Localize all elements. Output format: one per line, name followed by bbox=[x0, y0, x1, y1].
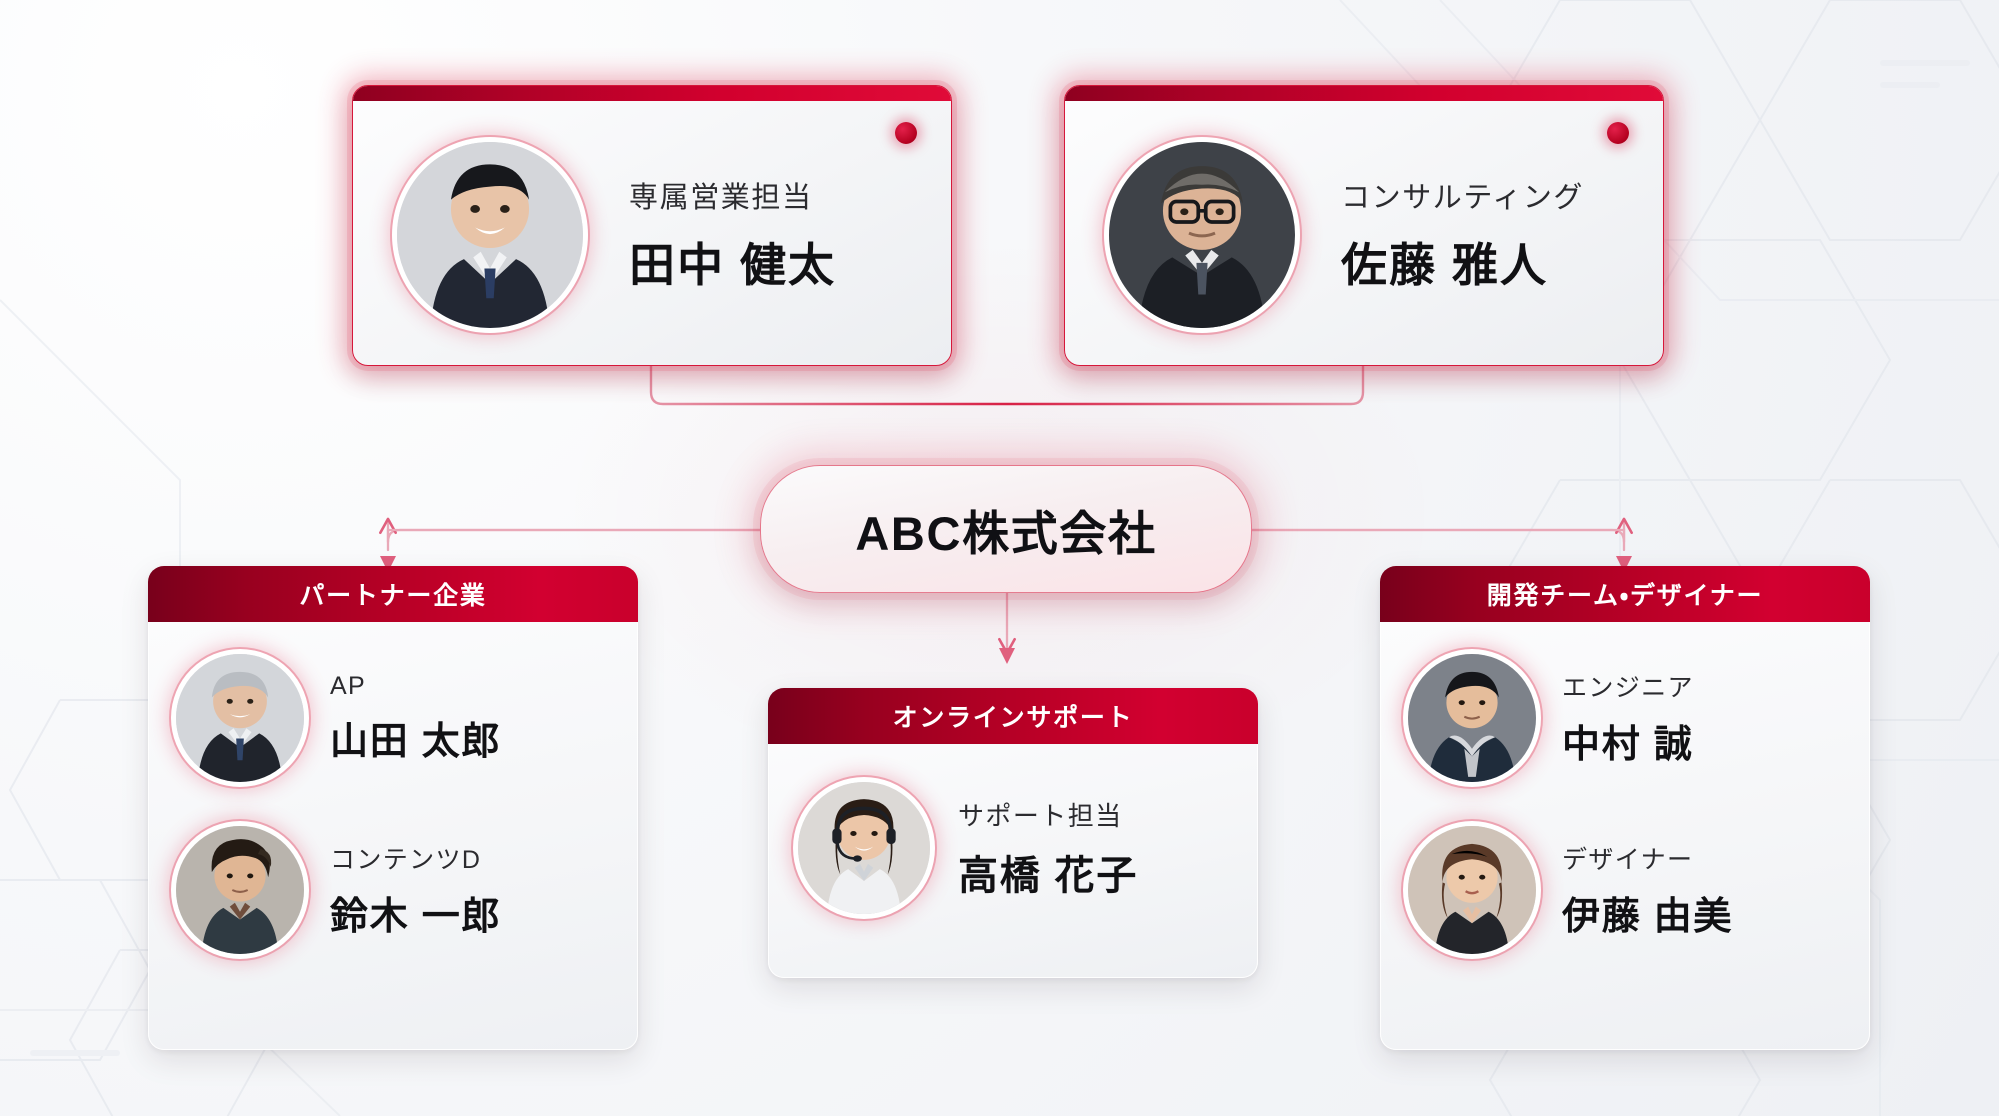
member-text: コンテンツD 鈴木 一郎 bbox=[330, 840, 501, 940]
role-label: コンサルティング bbox=[1341, 174, 1584, 216]
member-row[interactable]: コンテンツD 鈴木 一郎 bbox=[148, 782, 638, 954]
card-accent-bar bbox=[1065, 86, 1663, 101]
panel-header-support: オンラインサポート bbox=[768, 688, 1258, 744]
member-text: エンジニア 中村 誠 bbox=[1562, 668, 1694, 768]
panel-header-dev: 開発チーム・デザイナー bbox=[1380, 566, 1870, 622]
member-text: デザイナー 伊藤 由美 bbox=[1562, 840, 1733, 940]
status-dot-icon bbox=[895, 122, 917, 144]
avatar-woman-bobhair bbox=[1408, 826, 1536, 954]
person-name: 田中 健太 bbox=[629, 229, 836, 295]
panel-dev-design: 開発チーム・デザイナー bbox=[1380, 566, 1870, 1050]
card-text-block: コンサルティング 佐藤 雅人 bbox=[1341, 174, 1584, 295]
avatar-man-glasses-suit bbox=[1109, 142, 1295, 328]
panel-body: エンジニア 中村 誠 bbox=[1380, 622, 1870, 954]
role-label: エンジニア bbox=[1562, 668, 1694, 704]
card-text-block: 専属営業担当 田中 健太 bbox=[629, 174, 836, 295]
role-label: サポート担当 bbox=[958, 796, 1138, 833]
card-sales-rep[interactable]: 専属営業担当 田中 健太 bbox=[352, 85, 952, 366]
person-name: 佐藤 雅人 bbox=[1341, 229, 1584, 295]
avatar-man-suit-smiling bbox=[397, 142, 583, 328]
member-text: サポート担当 高橋 花子 bbox=[958, 796, 1138, 901]
person-name: 伊藤 由美 bbox=[1562, 885, 1733, 940]
member-row[interactable]: サポート担当 高橋 花子 bbox=[768, 774, 1258, 914]
hub-company-label: ABC株式会社 bbox=[855, 495, 1156, 564]
panel-online-support: オンラインサポート bbox=[768, 688, 1258, 978]
status-dot-icon bbox=[1607, 122, 1629, 144]
panel-body: AP 山田 太郎 bbox=[148, 622, 638, 954]
org-chart-canvas: 専属営業担当 田中 健太 bbox=[0, 0, 1999, 1116]
card-accent-bar bbox=[353, 86, 951, 101]
member-row[interactable]: デザイナー 伊藤 由美 bbox=[1380, 782, 1870, 954]
avatar-young-man-wavyhair bbox=[176, 826, 304, 954]
hub-company-node[interactable]: ABC株式会社 bbox=[760, 465, 1252, 593]
role-label: 専属営業担当 bbox=[629, 174, 836, 216]
person-name: 中村 誠 bbox=[1562, 713, 1694, 768]
card-consultant[interactable]: コンサルティング 佐藤 雅人 bbox=[1064, 85, 1664, 366]
person-name: 鈴木 一郎 bbox=[330, 885, 501, 940]
person-name: 高橋 花子 bbox=[958, 843, 1138, 901]
person-name: 山田 太郎 bbox=[330, 710, 501, 765]
role-label: AP bbox=[330, 672, 501, 701]
panel-body: サポート担当 高橋 花子 bbox=[768, 744, 1258, 914]
panel-header-partner: パートナー企業 bbox=[148, 566, 638, 622]
avatar-senior-man-grayhair bbox=[176, 654, 304, 782]
avatar-man-hoodie bbox=[1408, 654, 1536, 782]
member-row[interactable]: エンジニア 中村 誠 bbox=[1380, 648, 1870, 782]
avatar-woman-headset bbox=[798, 782, 930, 914]
panel-partner: パートナー企業 AP bbox=[148, 566, 638, 1050]
role-label: コンテンツD bbox=[330, 840, 501, 876]
member-row[interactable]: AP 山田 太郎 bbox=[148, 648, 638, 782]
member-text: AP 山田 太郎 bbox=[330, 672, 501, 765]
role-label: デザイナー bbox=[1562, 840, 1733, 876]
